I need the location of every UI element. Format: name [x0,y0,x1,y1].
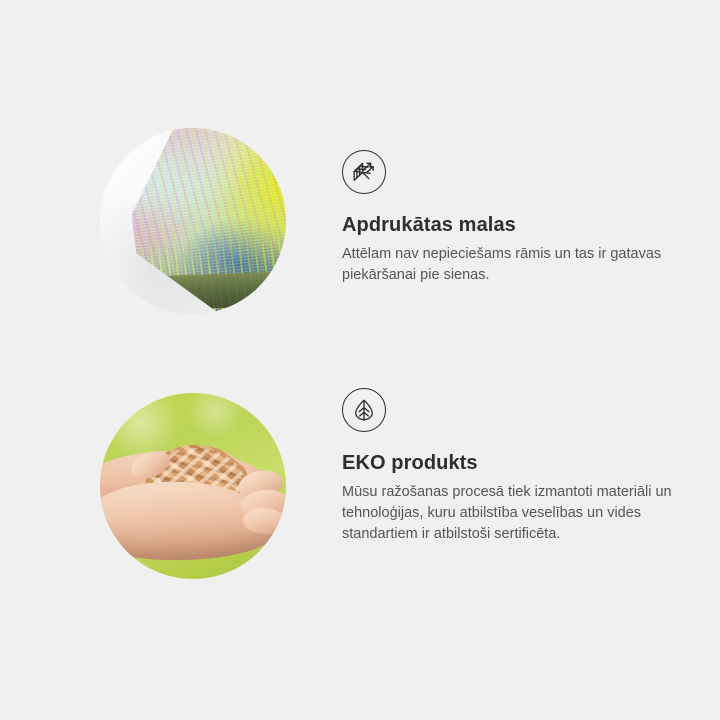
feature-eco-product: EKO produkts Mūsu ražošanas procesā tiek… [0,383,720,603]
canvas-print-drip [100,219,286,314]
printed-edge-glyph [351,159,377,185]
feature-printed-edges-title: Apdrukātas malas [342,212,692,238]
canvas-photo-backdrop [100,128,286,314]
feature-eco-product-content: EKO produkts Mūsu ražošanas procesā tiek… [342,388,692,545]
wood-chips-hands-photo [100,393,286,579]
printed-edge-icon [342,150,386,194]
feature-eco-product-title: EKO produkts [342,450,692,476]
feature-eco-product-description: Mūsu ražošanas procesā tiek izmantoti ma… [342,482,684,545]
feature-printed-edges-description: Attēlam nav nepieciešams rāmis un tas ir… [342,244,684,286]
canvas-corner-shape [100,128,286,314]
feature-page: Apdrukātas malas Attēlam nav nepieciešam… [0,0,720,720]
canvas-corner-photo [100,128,286,314]
eco-photo-backdrop [100,393,286,579]
leaf-glyph [351,397,377,423]
feature-printed-edges-content: Apdrukātas malas Attēlam nav nepieciešam… [342,150,692,286]
leaf-icon [342,388,386,432]
canvas-side-edge [131,271,286,311]
feature-printed-edges: Apdrukātas malas Attēlam nav nepieciešam… [0,118,720,338]
